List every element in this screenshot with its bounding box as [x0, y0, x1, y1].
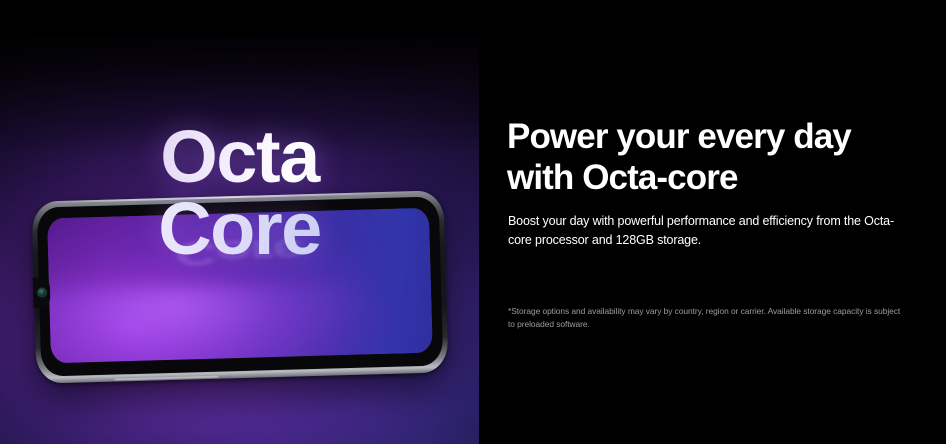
headline-line-2: with Octa-core — [507, 158, 907, 199]
screen-glow — [47, 280, 433, 364]
smartphone-device: Core — [32, 190, 449, 383]
phone-screen: Core — [47, 208, 433, 364]
copy-column: Power your every day with Octa-core Boos… — [507, 0, 927, 444]
wordmark-line-octa: Octa — [0, 122, 479, 192]
legal-disclaimer: *Storage options and availability may va… — [508, 305, 906, 330]
hero-image-panel: Octa Core Core — [0, 0, 479, 444]
promo-banner: Octa Core Core — [0, 0, 946, 444]
headline: Power your every day with Octa-core — [507, 117, 907, 199]
screen-wordmark-reflection: Core — [48, 230, 431, 274]
hero-artwork: Octa Core Core — [0, 36, 479, 444]
body-copy: Boost your day with powerful performance… — [508, 212, 900, 249]
headline-line-1: Power your every day — [507, 117, 907, 158]
phone-bezel: Core — [37, 196, 444, 376]
hero-top-fade — [0, 36, 479, 156]
